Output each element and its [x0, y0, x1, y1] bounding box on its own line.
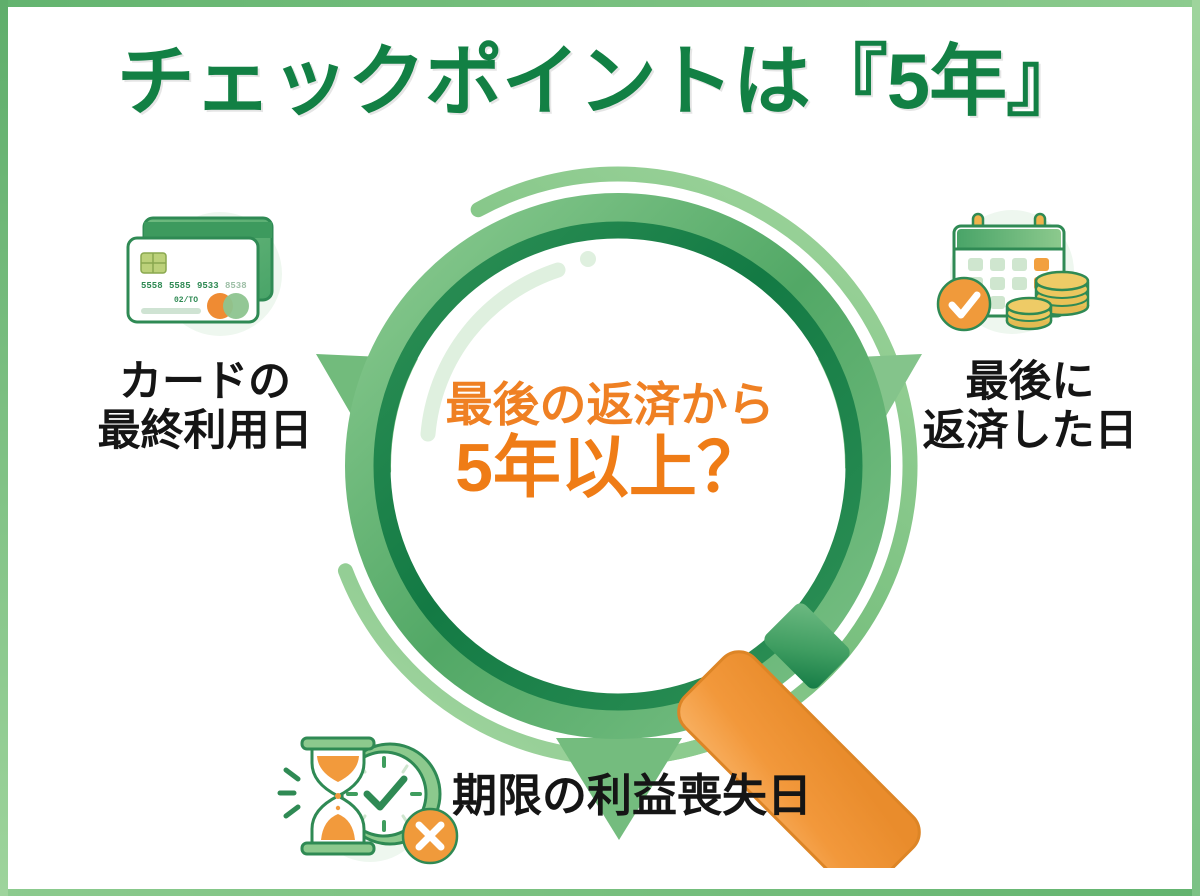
callout-label-right-line2: 返済した日 — [890, 407, 1170, 456]
card-name-strip — [141, 308, 201, 314]
infographic-canvas: チェックポイントは『5年』 — [0, 0, 1200, 896]
callout-label-bottom: 期限の利益喪失日 — [452, 770, 852, 821]
callout-label-right: 最後に 返済した日 — [890, 358, 1170, 456]
calendar-coins-svg — [912, 196, 1112, 356]
calendar-coins-icon — [912, 196, 1112, 356]
magnifying-glass-graphic: 最後の返済から 5年以上？ — [310, 168, 910, 768]
page-title: チェックポイントは『5年』 — [0, 42, 1200, 120]
card-expiry: 02/TO — [174, 296, 198, 305]
card-brand-logo — [207, 293, 249, 319]
frame-right-border — [1192, 0, 1200, 896]
check-circle-icon — [938, 278, 990, 330]
svg-text:5558: 5558 — [141, 281, 163, 291]
frame-left-border — [0, 0, 8, 896]
callout-label-left-line2: 最終利用日 — [60, 407, 350, 456]
x-circle-icon — [403, 809, 457, 863]
credit-cards-icon: 5558 5585 9533 8538 02/TO — [112, 196, 312, 356]
hourglass-clock-icon — [272, 726, 468, 876]
card-front: 5558 5585 9533 8538 02/TO — [128, 238, 258, 322]
hourglass-clock-svg — [272, 726, 468, 876]
svg-text:02/TO: 02/TO — [174, 296, 198, 305]
callout-label-left: カードの 最終利用日 — [60, 358, 350, 456]
frame-top-border — [0, 0, 1200, 7]
frame-bottom-border — [0, 889, 1200, 896]
motion-lines — [280, 770, 298, 816]
credit-cards-svg: 5558 5585 9533 8538 02/TO — [112, 196, 312, 356]
svg-text:5585: 5585 — [169, 281, 191, 291]
callout-label-bottom-line1: 期限の利益喪失日 — [452, 770, 852, 821]
svg-text:9533: 9533 — [197, 281, 219, 291]
svg-text:8538: 8538 — [225, 281, 247, 291]
callout-label-right-line1: 最後に — [890, 358, 1170, 407]
card-chip — [141, 253, 166, 273]
callout-label-left-line1: カードの — [60, 358, 350, 407]
